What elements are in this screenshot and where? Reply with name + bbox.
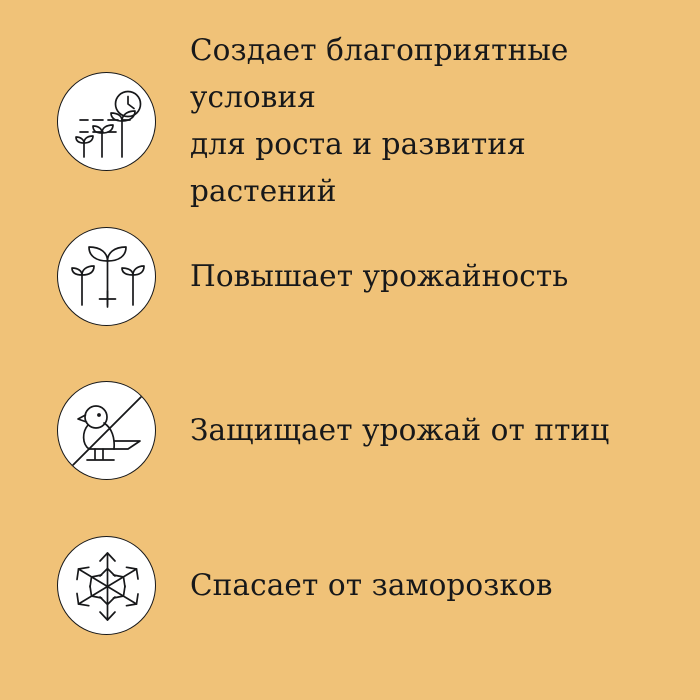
feature-label: Спасает от заморозков <box>190 562 553 609</box>
sprouts-plus-icon <box>57 227 156 326</box>
feature-row: Защищает урожай от птиц <box>57 380 609 480</box>
no-bird-icon <box>57 381 156 480</box>
feature-list-graphic: Создает благоприятные условия для роста … <box>0 0 700 700</box>
snowflake-icon <box>57 536 156 635</box>
feature-row: Создает благоприятные условия для роста … <box>57 71 660 171</box>
feature-row: Спасает от заморозков <box>57 535 553 635</box>
growing-plants-clock-icon <box>57 72 156 171</box>
feature-label: Повышает урожайность <box>190 253 568 300</box>
feature-label: Создает благоприятные условия для роста … <box>190 27 660 215</box>
feature-label: Защищает урожай от птиц <box>190 407 609 454</box>
feature-row: Повышает урожайность <box>57 226 568 326</box>
